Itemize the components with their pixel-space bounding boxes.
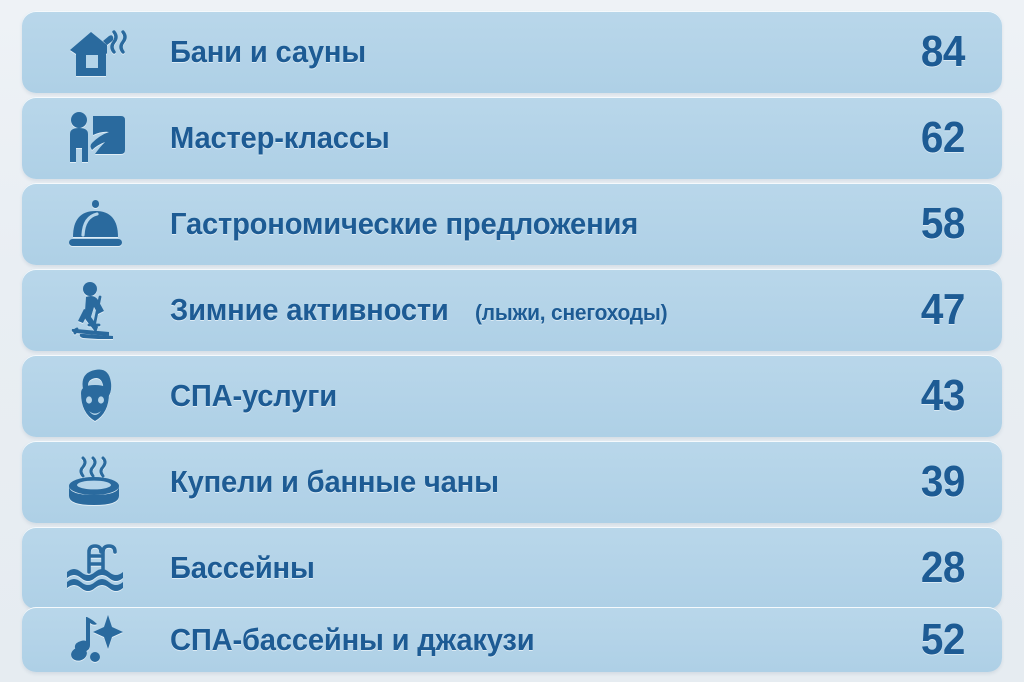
category-value: 47 <box>921 285 965 335</box>
value-cell: 62 <box>882 113 1002 163</box>
value-cell: 47 <box>882 285 1002 335</box>
list-item[interactable]: Бассейны 28 <box>22 527 1002 609</box>
label-cell: Гастрономические предложения <box>170 206 882 242</box>
list-item[interactable]: Купели и банные чаны 39 <box>22 441 1002 523</box>
face-mask-icon <box>22 355 170 437</box>
food-cloche-icon <box>22 183 170 265</box>
category-value: 62 <box>921 113 965 163</box>
category-value: 43 <box>921 371 965 421</box>
label-cell: Мастер-классы <box>170 120 882 156</box>
category-value: 28 <box>921 543 965 593</box>
label-cell: СПА-услуги <box>170 378 882 414</box>
hot-tub-icon <box>22 441 170 523</box>
list-item[interactable]: Мастер-классы 62 <box>22 97 1002 179</box>
value-cell: 52 <box>882 615 1002 665</box>
category-sublabel: (лыжи, снегоходы) <box>475 300 667 326</box>
label-cell: Бани и сауны <box>170 34 882 70</box>
label-cell: СПА-бассейны и джакузи <box>170 622 882 658</box>
category-value: 58 <box>921 199 965 249</box>
value-cell: 58 <box>882 199 1002 249</box>
value-cell: 84 <box>882 27 1002 77</box>
category-label: Купели и банные чаны <box>170 464 499 500</box>
category-value: 84 <box>921 27 965 77</box>
label-cell: Бассейны <box>170 550 882 586</box>
list-item[interactable]: СПА-услуги 43 <box>22 355 1002 437</box>
value-cell: 43 <box>882 371 1002 421</box>
sauna-house-icon <box>22 11 170 93</box>
category-label: Гастрономические предложения <box>170 206 638 242</box>
category-label: Зимние активности <box>170 292 449 328</box>
label-cell: Зимние активности (лыжи, снегоходы) <box>170 292 882 328</box>
category-label: Бассейны <box>170 550 315 586</box>
label-cell: Купели и банные чаны <box>170 464 882 500</box>
music-sparkle-icon <box>22 607 170 672</box>
category-label: Бани и сауны <box>170 34 366 70</box>
skier-icon <box>22 269 170 351</box>
category-label: Мастер-классы <box>170 120 390 156</box>
category-label: СПА-услуги <box>170 378 337 414</box>
swimming-pool-ladder-icon <box>22 527 170 609</box>
value-cell: 39 <box>882 457 1002 507</box>
list-item[interactable]: СПА-бассейны и джакузи 52 <box>22 607 1002 672</box>
presenter-board-icon <box>22 97 170 179</box>
infographic-board: Бани и сауны 84 Мастер-классы 62 <box>0 0 1024 682</box>
category-value: 52 <box>921 615 965 665</box>
list-item[interactable]: Гастрономические предложения 58 <box>22 183 1002 265</box>
value-cell: 28 <box>882 543 1002 593</box>
list-item[interactable]: Зимние активности (лыжи, снегоходы) 47 <box>22 269 1002 351</box>
list-item[interactable]: Бани и сауны 84 <box>22 11 1002 93</box>
category-value: 39 <box>921 457 965 507</box>
category-label: СПА-бассейны и джакузи <box>170 622 534 658</box>
